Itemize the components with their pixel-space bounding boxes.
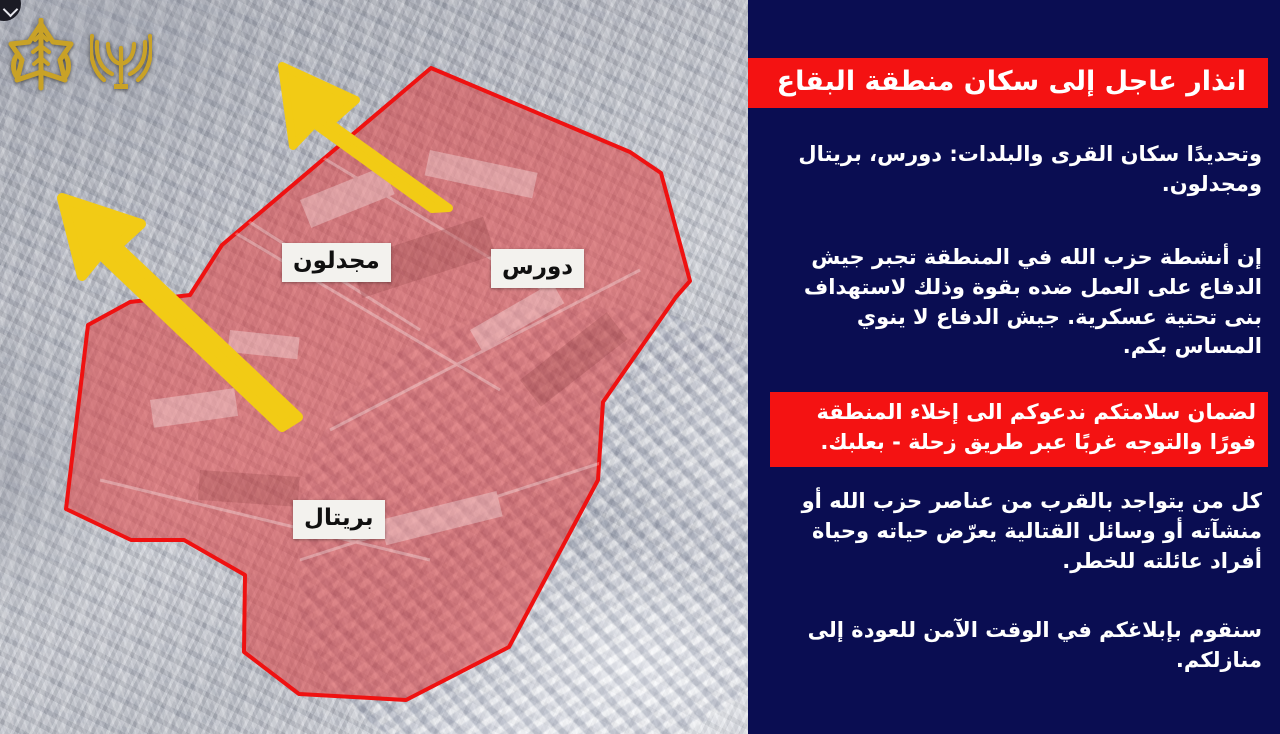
emblem-group (8, 18, 152, 92)
body-paragraph: إن أنشطة حزب الله في المنطقة تجبر جيش ال… (766, 243, 1262, 362)
idf-spokesperson-broadcast-emblem (90, 18, 152, 92)
map-label-brital: بريتال (293, 500, 385, 539)
villages-paragraph: وتحديدًا سكان القرى والبلدات: دورس، بريت… (766, 140, 1262, 200)
danger-zone-overlay (0, 0, 748, 734)
idf-insignia-emblem (8, 18, 74, 92)
map-label-douris: دورس (491, 249, 584, 288)
headline-banner: انذار عاجل إلى سكان منطقة البقاع (748, 58, 1268, 108)
warning-text-pane: انذار عاجل إلى سكان منطقة البقاع وتحديدً… (748, 0, 1280, 734)
evacuation-warning-graphic: مجدلون دورس بريتال (0, 0, 1280, 734)
map-label-majdaloun: مجدلون (282, 243, 391, 282)
return-notice-paragraph: سنقوم بإبلاغكم في الوقت الآمن للعودة إلى… (766, 616, 1262, 676)
evacuation-callout: لضمان سلامتكم ندعوكم الى إخلاء المنطقة ف… (770, 392, 1268, 467)
satellite-map-pane: مجدلون دورس بريتال (0, 0, 748, 734)
danger-paragraph: كل من يتواجد بالقرب من عناصر حزب الله أو… (766, 487, 1262, 576)
